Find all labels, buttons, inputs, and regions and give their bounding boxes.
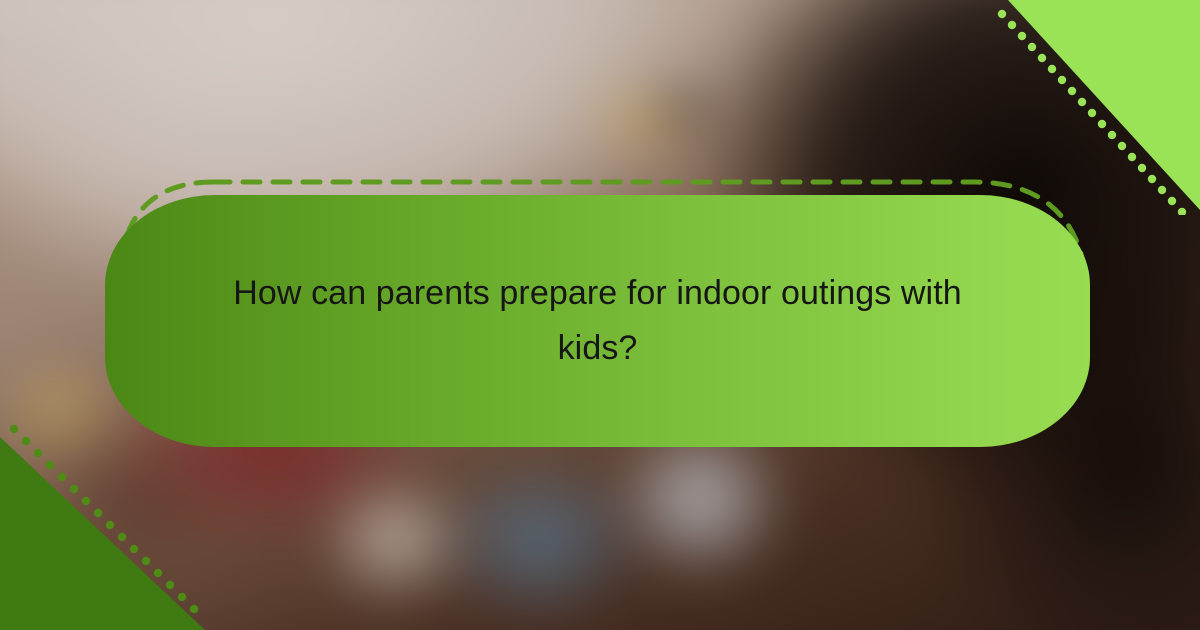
poster-canvas: How can parents prepare for indoor outin…	[0, 0, 1200, 630]
question-card: How can parents prepare for indoor outin…	[95, 170, 1105, 460]
page-title: How can parents prepare for indoor outin…	[203, 266, 993, 376]
card-surface: How can parents prepare for indoor outin…	[105, 195, 1090, 447]
